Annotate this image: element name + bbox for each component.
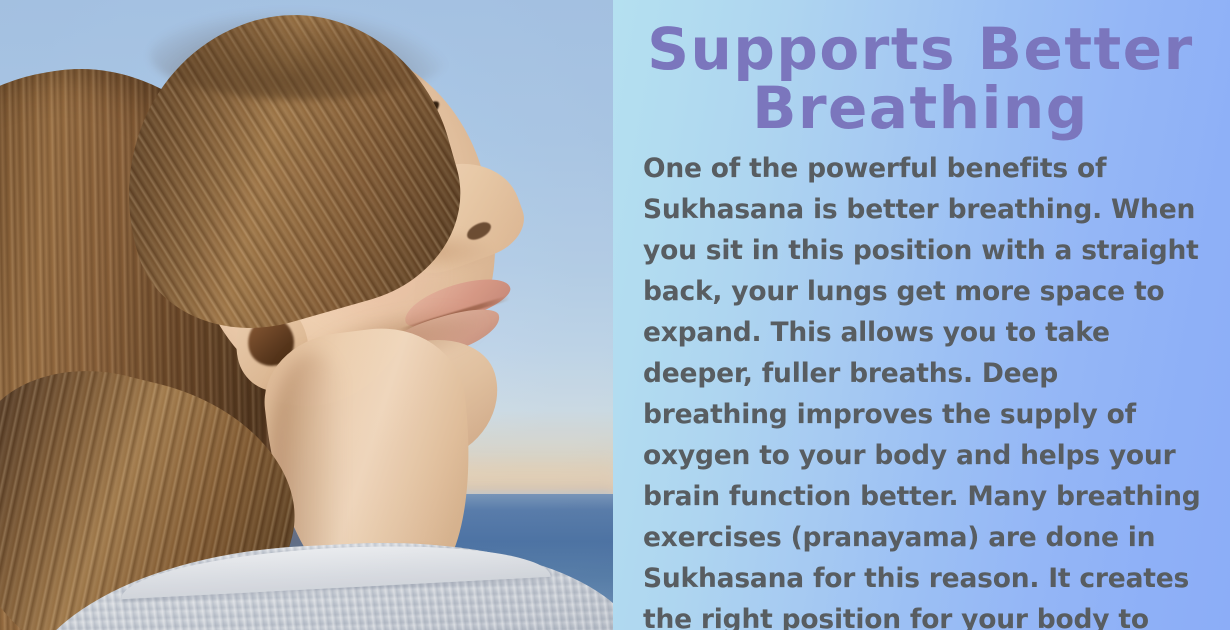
body-paragraph: One of the powerful benefits of Sukhasan…	[643, 148, 1210, 630]
page-title: Supports Better Breathing	[631, 14, 1210, 138]
photo-panel	[0, 0, 613, 630]
hair-wisps	[150, 10, 450, 100]
infographic-slide: Supports Better Breathing One of the pow…	[0, 0, 1230, 630]
text-panel: Supports Better Breathing One of the pow…	[613, 0, 1230, 630]
